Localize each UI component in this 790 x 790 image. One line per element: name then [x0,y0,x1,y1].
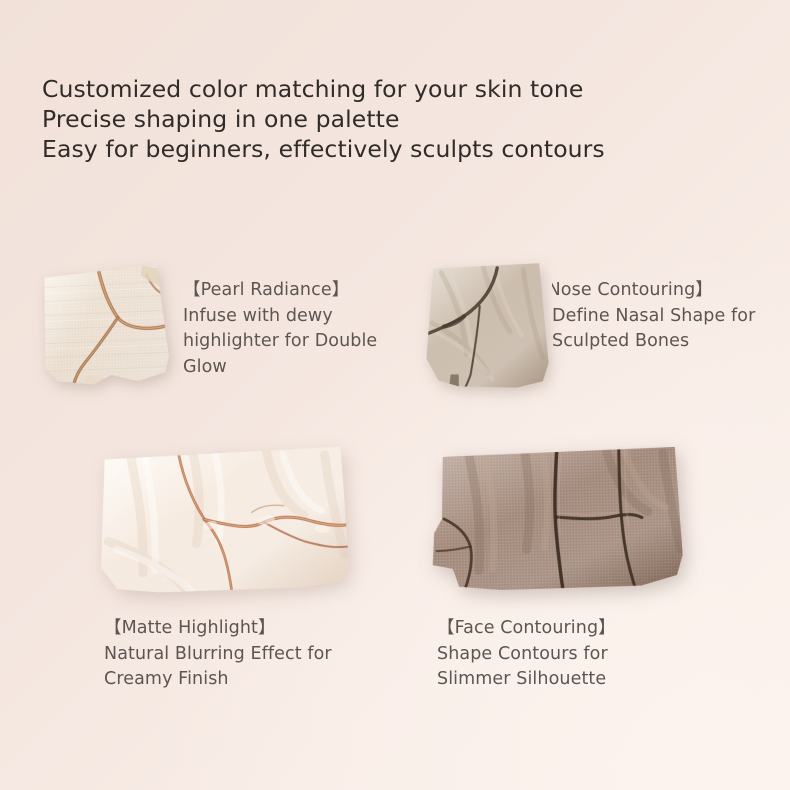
pearl-radiance-caption: 【Pearl Radiance】 Infuse with dewy highli… [183,278,398,380]
matte-highlight-caption: 【Matte Highlight】 Natural Blurring Effec… [104,616,334,693]
headline-line-2: Precise shaping in one palette [42,104,682,134]
pearl-radiance-description: Infuse with dewy highlighter for Double … [183,304,398,381]
pearl-radiance-swatch-art [38,260,173,390]
headline-line-3: Easy for beginners, effectively sculpts … [42,134,682,164]
face-contouring-swatch-art [429,445,685,594]
face-contouring-description: Shape Contours for Slimmer Silhouette [437,642,672,693]
nose-contouring-swatch [423,261,551,389]
nose-contouring-title: 【Nose Contouring】 [552,278,784,304]
product-feature-image: Customized color matching for your skin … [0,0,790,790]
matte-highlight-swatch [96,444,351,596]
face-contouring-title: 【Face Contouring】 [437,616,672,642]
face-contouring-swatch [429,445,685,594]
nose-contouring-swatch-art [423,261,551,389]
pearl-radiance-swatch [38,260,173,390]
pearl-radiance-title: 【Pearl Radiance】 [183,278,398,304]
nose-contouring-description: Define Nasal Shape for Sculpted Bones [552,304,784,355]
nose-contouring-caption: 【Nose Contouring】 Define Nasal Shape for… [552,278,784,355]
headline-line-1: Customized color matching for your skin … [42,74,682,104]
matte-highlight-swatch-art [96,444,351,596]
matte-highlight-description: Natural Blurring Effect for Creamy Finis… [104,642,334,693]
matte-highlight-title: 【Matte Highlight】 [104,616,334,642]
face-contouring-caption: 【Face Contouring】 Shape Contours for Sli… [437,616,672,693]
headline-block: Customized color matching for your skin … [42,74,682,164]
